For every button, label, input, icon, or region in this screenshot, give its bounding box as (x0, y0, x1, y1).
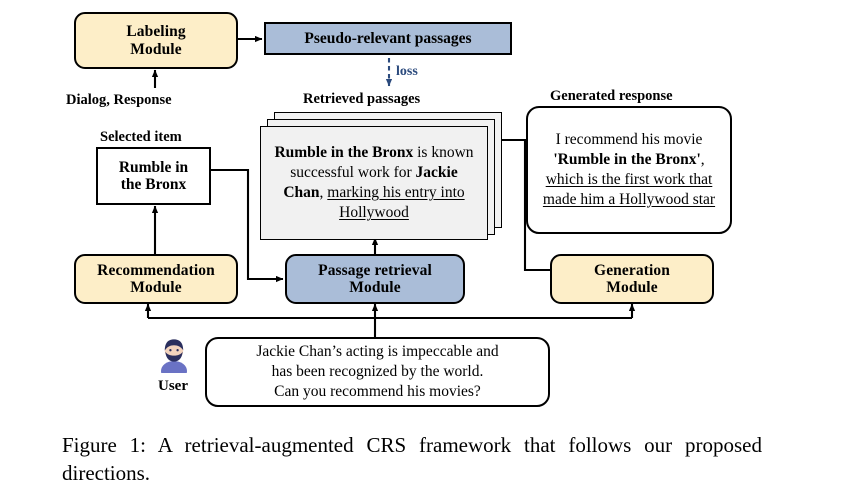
pseudo-relevant-passages-label: Pseudo-relevant passages (304, 30, 471, 47)
user-label: User (158, 378, 188, 395)
labeling-module-label: Labeling Module (126, 23, 185, 58)
generation-module-line1: Generation (594, 262, 670, 279)
passage-card-front[interactable]: Rumble in the Bronx is known successful … (260, 126, 488, 240)
user-utterance-line1: Jackie Chan’s acting is impeccable and (256, 343, 498, 360)
response-highlight: which is the first work that made him a … (543, 171, 715, 208)
passage-retrieval-module-line2: Module (349, 279, 400, 296)
selected-item-line2: the Bronx (121, 176, 187, 193)
selected-item-box[interactable]: Rumble in the Bronx (96, 147, 211, 205)
generation-module-line2: Module (606, 279, 657, 296)
passage-title: Rumble in the Bronx (274, 144, 413, 161)
labeling-module-line1: Labeling (126, 23, 185, 40)
user-avatar-icon (157, 337, 191, 373)
figure-diagram: Labeling Module Pseudo-relevant passages… (0, 0, 850, 484)
passage-retrieval-module[interactable]: Passage retrieval Module (285, 254, 465, 304)
selected-item-line1: Rumble in (119, 159, 188, 176)
user-utterance-box[interactable]: Jackie Chan’s acting is impeccable and h… (205, 337, 550, 407)
recommendation-module-line2: Module (130, 279, 181, 296)
selected-item-label: Selected item (100, 129, 182, 146)
user-utterance-line3: Can you recommend his movies? (274, 383, 481, 400)
passage-retrieval-module-label: Passage retrieval Module (318, 262, 432, 297)
generation-module[interactable]: Generation Module (550, 254, 714, 304)
passage-highlight: marking his entry into Hollywood (327, 184, 464, 221)
passage-text: Rumble in the Bronx is known successful … (270, 143, 478, 224)
generated-response-text: I recommend his movie 'Rumble in the Bro… (538, 130, 720, 209)
retrieved-passages-label: Retrieved passages (303, 91, 420, 108)
pseudo-relevant-passages-box[interactable]: Pseudo-relevant passages (264, 22, 512, 55)
labeling-module[interactable]: Labeling Module (74, 12, 238, 69)
dialog-response-label: Dialog, Response (66, 92, 172, 109)
passage-retrieval-module-line1: Passage retrieval (318, 262, 432, 279)
figure-caption: Figure 1: A retrieval-augmented CRS fram… (62, 432, 762, 488)
connector-wires (0, 0, 850, 484)
recommendation-module-label: Recommendation Module (97, 262, 215, 297)
generated-response-label: Generated response (550, 88, 673, 105)
selected-item-text: Rumble in the Bronx (119, 159, 188, 194)
loss-label: loss (396, 64, 418, 80)
recommendation-module-line1: Recommendation (97, 262, 215, 279)
generated-response-box[interactable]: I recommend his movie 'Rumble in the Bro… (526, 106, 732, 234)
recommendation-module[interactable]: Recommendation Module (74, 254, 238, 304)
user-utterance-line2: has been recognized by the world. (272, 363, 484, 380)
user-utterance-text: Jackie Chan’s acting is impeccable and h… (256, 342, 498, 401)
response-title: 'Rumble in the Bronx' (553, 151, 700, 168)
labeling-module-line2: Module (130, 41, 181, 58)
generation-module-label: Generation Module (594, 262, 670, 297)
retrieved-passages-stack[interactable]: Rumble in the Bronx is known successful … (260, 112, 504, 240)
